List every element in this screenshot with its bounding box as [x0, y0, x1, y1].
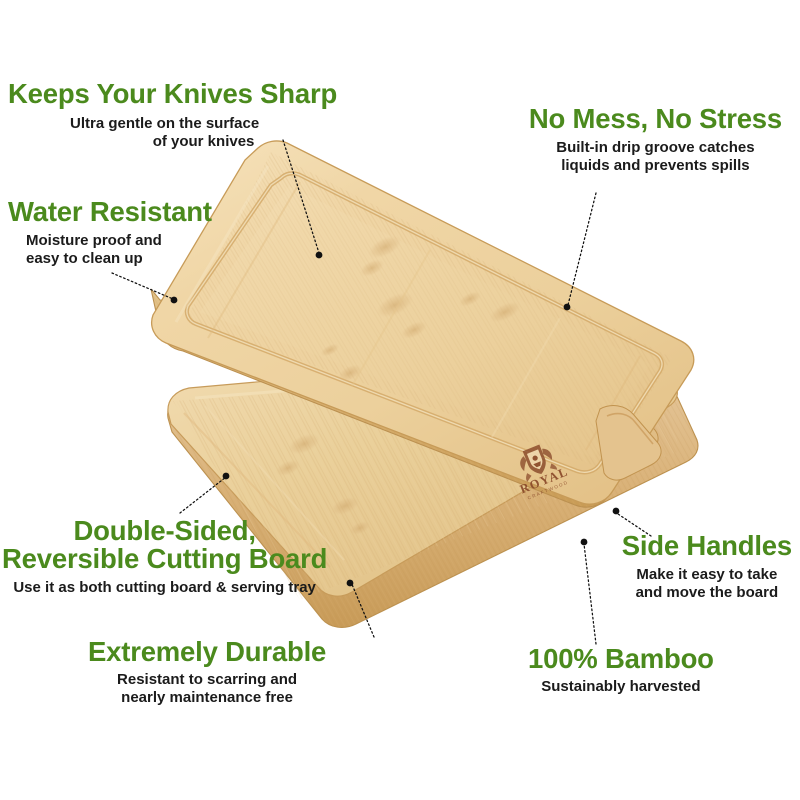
callout-subtitle-knives-line2: of your knives	[70, 133, 337, 151]
leader-line-durable	[351, 582, 374, 637]
callout-side-handles: Side Handles Make it easy to take and mo…	[622, 532, 792, 601]
leader-dot-knives	[316, 252, 323, 259]
callout-no-mess-no-stress: No Mess, No Stress Built-in drip groove …	[529, 105, 782, 174]
callout-subtitle-water-line2: easy to clean up	[26, 250, 212, 268]
leader-dot-durable	[347, 580, 354, 587]
callout-subtitle-double: Use it as both cutting board & serving t…	[2, 579, 327, 597]
callout-title-handles: Side Handles	[622, 532, 792, 560]
callout-subtitle-knives-line1: Ultra gentle on the surface	[70, 115, 337, 133]
callout-title-water: Water Resistant	[8, 198, 212, 226]
callout-title-double: Double-Sided, Reversible Cutting Board	[2, 517, 327, 573]
callout-keeps-knives-sharp: Keeps Your Knives Sharp Ultra gentle on …	[8, 80, 337, 150]
infographic-canvas: ROYAL CRAFTWOOD Keeps Your Knives Sha	[0, 0, 800, 800]
upper-cutting-board: ROYAL CRAFTWOOD	[140, 130, 710, 520]
callout-double-sided-reversible: Double-Sided, Reversible Cutting Board U…	[2, 517, 327, 597]
callout-title-bamboo: 100% Bamboo	[528, 645, 714, 673]
callout-title-nomess: No Mess, No Stress	[529, 105, 782, 133]
callout-subtitle-durable: Resistant to scarring and nearly mainten…	[88, 671, 326, 706]
leader-dot-bamboo	[581, 539, 588, 546]
callout-title-double-line2: Reversible Cutting Board	[2, 545, 327, 573]
callout-subtitle-water: Moisture proof and easy to clean up	[8, 232, 212, 267]
callout-subtitle-double-line1: Use it as both cutting board & serving t…	[2, 579, 327, 597]
callout-title-knives: Keeps Your Knives Sharp	[8, 80, 337, 108]
callout-subtitle-knives: Ultra gentle on the surface of your kniv…	[8, 115, 337, 150]
side-handle-groove	[596, 406, 661, 480]
logo-tagline: CRAFTWOOD	[527, 480, 569, 501]
callout-title-durable: Extremely Durable	[88, 638, 326, 666]
brand-logo-engraving: ROYAL CRAFTWOOD	[507, 438, 572, 502]
callout-subtitle-nomess-line2: liquids and prevents spills	[529, 157, 782, 175]
leader-line-nomess	[568, 193, 596, 305]
leader-line-knives	[283, 140, 319, 253]
leader-dot-nomess	[564, 304, 571, 311]
callout-water-resistant: Water Resistant Moisture proof and easy …	[8, 198, 212, 267]
callout-100-percent-bamboo: 100% Bamboo Sustainably harvested	[528, 645, 714, 696]
callout-title-double-line1: Double-Sided,	[2, 517, 327, 545]
leader-dot-handles	[613, 508, 620, 515]
callout-subtitle-handles-line2: and move the board	[622, 584, 792, 602]
leader-line-bamboo	[584, 544, 596, 644]
callout-subtitle-nomess: Built-in drip groove catches liquids and…	[529, 139, 782, 174]
leader-line-double	[180, 477, 226, 513]
callout-subtitle-durable-line2: nearly maintenance free	[88, 689, 326, 707]
logo-wordmark: ROYAL	[518, 464, 571, 496]
callout-subtitle-water-line1: Moisture proof and	[26, 232, 212, 250]
callout-subtitle-bamboo-line1: Sustainably harvested	[528, 678, 714, 696]
callout-subtitle-handles: Make it easy to take and move the board	[622, 566, 792, 601]
callout-subtitle-durable-line1: Resistant to scarring and	[88, 671, 326, 689]
leader-dot-water	[171, 297, 178, 304]
drip-groove	[187, 173, 662, 472]
callout-subtitle-nomess-line1: Built-in drip groove catches	[529, 139, 782, 157]
leader-line-water	[112, 273, 173, 299]
callout-subtitle-handles-line1: Make it easy to take	[622, 566, 792, 584]
callout-extremely-durable: Extremely Durable Resistant to scarring …	[88, 638, 326, 706]
callout-subtitle-bamboo: Sustainably harvested	[528, 678, 714, 696]
leader-dot-double	[223, 473, 230, 480]
